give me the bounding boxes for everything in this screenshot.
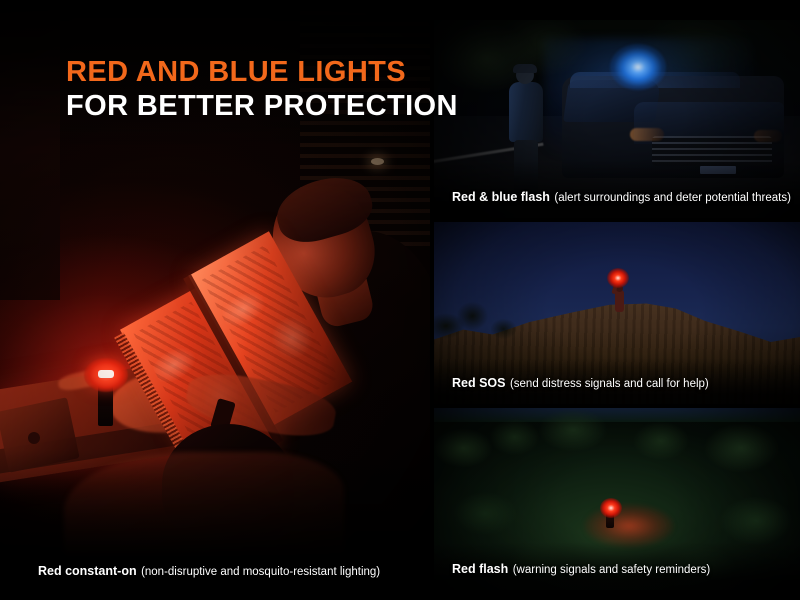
red-lantern-light <box>98 370 114 378</box>
person-body <box>615 290 624 312</box>
panel-red-flash: Red flash (warning signals and safety re… <box>434 408 800 590</box>
caption-title: Red & blue flash <box>452 190 550 204</box>
right-column: Red & blue flash (alert surroundings and… <box>434 0 800 600</box>
caption-red-blue-flash: Red & blue flash (alert surroundings and… <box>452 188 791 206</box>
suv-headlight-left <box>630 128 664 141</box>
suv-headlight-right <box>754 130 782 142</box>
tablet-button <box>28 432 40 444</box>
caption-red-flash: Red flash (warning signals and safety re… <box>452 560 710 578</box>
caption-detail: (alert surroundings and deter potential … <box>554 192 791 204</box>
caption-red-sos: Red SOS (send distress signals and call … <box>452 374 709 392</box>
cliff-vegetation <box>434 296 554 346</box>
person-torso <box>509 82 543 142</box>
caption-detail: (send distress signals and call for help… <box>510 378 709 390</box>
headline: RED AND BLUE LIGHTS FOR BETTER PROTECTIO… <box>66 56 458 123</box>
caption-detail: (warning signals and safety reminders) <box>513 564 711 576</box>
caption-red-constant-on: Red constant-on (non-disruptive and mosq… <box>38 562 380 580</box>
panel-red-blue-flash: Red & blue flash (alert surroundings and… <box>434 20 800 218</box>
caption-detail: (non-disruptive and mosquito-resistant l… <box>141 566 380 578</box>
red-sos-light <box>607 268 629 288</box>
caption-title: Red flash <box>452 562 508 576</box>
blue-beacon-light <box>610 44 666 90</box>
headline-line-2: FOR BETTER PROTECTION <box>66 90 458 124</box>
panel-red-sos: Red SOS (send distress signals and call … <box>434 222 800 404</box>
red-flash-light <box>600 498 622 518</box>
caption-title: Red SOS <box>452 376 506 390</box>
caption-title: Red constant-on <box>38 564 137 578</box>
ceiling-light <box>371 158 384 165</box>
sos-person <box>612 280 626 312</box>
headline-line-1: RED AND BLUE LIGHTS <box>66 56 458 90</box>
poster-root: RED AND BLUE LIGHTS FOR BETTER PROTECTIO… <box>0 0 800 600</box>
person-cap <box>513 64 537 73</box>
